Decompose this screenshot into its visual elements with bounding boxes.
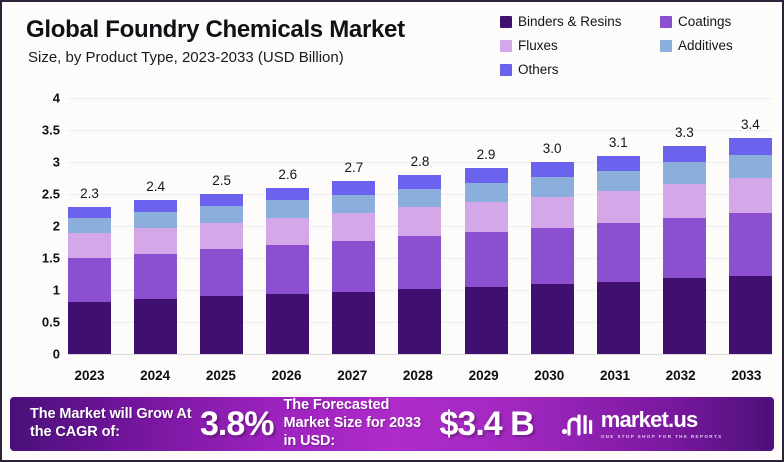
bar-segment-binders-resins[interactable] [597,282,640,354]
legend-swatch-icon [660,16,672,28]
bar-value-label: 2.8 [411,154,430,169]
x-axis-tick-label-2023: 2023 [68,368,111,390]
bar-segment-others[interactable] [332,181,375,194]
x-axis-tick-label-2029: 2029 [462,368,505,390]
bar-segment-coatings[interactable] [332,241,375,292]
bar-segment-others[interactable] [398,175,441,189]
bar-segment-fluxes[interactable] [597,191,640,223]
legend-item-label: Binders & Resins [518,14,622,29]
bar-column-2025[interactable]: 2.5 [200,86,243,366]
legend-item-label: Others [518,62,559,77]
bar-segment-additives[interactable] [266,200,309,217]
bar-segment-fluxes[interactable] [398,207,441,236]
y-axis-tick-label: 1 [14,283,60,298]
bar-segment-coatings[interactable] [266,245,309,294]
bar-segment-additives[interactable] [398,189,441,208]
bar-segment-binders-resins[interactable] [134,299,177,354]
bar-segment-coatings[interactable] [729,213,772,276]
legend-item-label: Coatings [678,14,731,29]
bar-segment-others[interactable] [200,194,243,206]
bar-segment-additives[interactable] [68,218,111,233]
bar-segment-others[interactable] [266,188,309,201]
y-axis-tick-label: 4 [14,91,60,106]
bar-value-label: 2.3 [80,186,99,201]
bar-value-label: 2.4 [146,179,165,194]
legend-swatch-icon [500,40,512,52]
bar-value-label: 2.5 [212,173,231,188]
bar-column-2033[interactable]: 3.4 [729,86,772,366]
stacked-bar [266,188,309,354]
legend-item-coatings[interactable]: Coatings [660,14,772,29]
bar-segment-additives[interactable] [597,171,640,191]
bar-column-2023[interactable]: 2.3 [68,86,111,366]
bar-value-label: 2.9 [477,147,496,162]
stacked-bar [200,194,243,354]
y-axis-tick-label: 0 [14,347,60,362]
y-axis-tick-label: 3 [14,155,60,170]
bar-segment-additives[interactable] [531,177,574,197]
bar-segment-binders-resins[interactable] [465,287,508,354]
legend-item-label: Fluxes [518,38,558,53]
y-axis-tick-label: 3.5 [14,123,60,138]
bar-segment-coatings[interactable] [663,218,706,279]
x-axis-tick-label-2025: 2025 [199,368,242,390]
stacked-bar [332,181,375,354]
bar-column-2027[interactable]: 2.7 [332,86,375,366]
bar-segment-fluxes[interactable] [200,223,243,249]
bar-segment-additives[interactable] [200,206,243,223]
plot-area: 00.511.522.533.54 2.32.42.52.62.72.82.93… [2,86,784,366]
chart-legend: Binders & ResinsCoatingsFluxesAdditivesO… [500,14,772,77]
bar-segment-binders-resins[interactable] [266,294,309,354]
bar-segment-others[interactable] [465,168,508,183]
y-axis-tick-label: 2.5 [14,187,60,202]
bar-group: 2.32.42.52.62.72.82.93.03.13.33.4 [68,86,772,366]
cagr-value: 3.8% [200,405,274,444]
bar-segment-others[interactable] [597,156,640,171]
bar-column-2032[interactable]: 3.3 [663,86,706,366]
bar-column-2030[interactable]: 3.0 [531,86,574,366]
legend-item-label: Additives [678,38,733,53]
bar-segment-others[interactable] [663,146,706,162]
bar-segment-coatings[interactable] [134,254,177,299]
x-axis-tick-label-2030: 2030 [528,368,571,390]
bar-column-2029[interactable]: 2.9 [465,86,508,366]
cagr-label: The Market will Grow At the CAGR of: [30,406,198,442]
bar-segment-coatings[interactable] [531,228,574,284]
legend-item-fluxes[interactable]: Fluxes [500,38,660,53]
x-axis-tick-label-2027: 2027 [331,368,374,390]
y-axis-tick-label: 2 [14,219,60,234]
bar-segment-others[interactable] [729,138,772,155]
bar-segment-fluxes[interactable] [663,184,706,218]
market-us-logo-icon [560,411,594,437]
bar-segment-binders-resins[interactable] [332,292,375,354]
bar-segment-fluxes[interactable] [465,202,508,232]
market-us-logo[interactable]: market.us ONE STOP SHOP FOR THE REPORTS [560,409,723,439]
bar-segment-fluxes[interactable] [332,213,375,241]
bar-segment-additives[interactable] [729,155,772,178]
bar-segment-coatings[interactable] [68,258,111,302]
forecast-label: The Forecasted Market Size for 2033 in U… [284,397,436,451]
y-axis-tick-label: 0.5 [14,315,60,330]
legend-item-others[interactable]: Others [500,62,660,77]
bar-segment-fluxes[interactable] [729,178,772,213]
x-axis-tick-label-2033: 2033 [725,368,768,390]
bar-segment-fluxes[interactable] [134,228,177,254]
bar-value-label: 3.3 [675,125,694,140]
stacked-bar [68,207,111,354]
logo-wordmark: market.us [601,409,698,431]
legend-item-additives[interactable]: Additives [660,38,772,53]
x-axis-tick-label-2032: 2032 [659,368,702,390]
bar-segment-fluxes[interactable] [68,233,111,258]
bar-segment-binders-resins[interactable] [663,278,706,354]
bar-column-2026[interactable]: 2.6 [266,86,309,366]
bar-segment-additives[interactable] [465,183,508,202]
bar-value-label: 3.4 [741,117,760,132]
bar-segment-coatings[interactable] [597,223,640,281]
bar-segment-coatings[interactable] [200,249,243,296]
bar-value-label: 3.0 [543,141,562,156]
bottom-banner: The Market will Grow At the CAGR of: 3.8… [10,397,774,451]
stacked-bar [729,138,772,354]
bar-segment-binders-resins[interactable] [729,276,772,354]
bar-value-label: 2.7 [344,160,363,175]
y-axis-ticks: 00.511.522.533.54 [14,86,60,366]
stacked-bar [663,146,706,354]
bar-segment-additives[interactable] [332,195,375,213]
bar-segment-fluxes[interactable] [266,218,309,246]
bar-value-label: 2.6 [278,167,297,182]
legend-swatch-icon [660,40,672,52]
stacked-bar [398,175,441,354]
page-subtitle: Size, by Product Type, 2023-2033 (USD Bi… [28,49,344,66]
bar-column-2028[interactable]: 2.8 [398,86,441,366]
bar-value-label: 3.1 [609,135,628,150]
bar-column-2024[interactable]: 2.4 [134,86,177,366]
legend-swatch-icon [500,64,512,76]
bar-segment-others[interactable] [531,162,574,177]
x-axis-tick-label-2031: 2031 [594,368,637,390]
x-axis-tick-label-2028: 2028 [396,368,439,390]
x-axis-tick-label-2024: 2024 [134,368,177,390]
bar-segment-binders-resins[interactable] [68,302,111,354]
bar-segment-others[interactable] [68,207,111,218]
page-title: Global Foundry Chemicals Market [26,16,405,44]
forecast-value: $3.4 B [440,405,534,444]
x-axis-ticks: 2023202420252026202720282029203020312032… [68,368,768,390]
stacked-bar [134,200,177,354]
logo-tagline: ONE STOP SHOP FOR THE REPORTS [601,434,723,439]
bar-segment-others[interactable] [134,200,177,212]
chart-infographic: Global Foundry Chemicals Market Size, by… [0,0,784,462]
x-axis-tick-label-2026: 2026 [265,368,308,390]
logo-text: market.us ONE STOP SHOP FOR THE REPORTS [601,409,723,439]
legend-swatch-icon [500,16,512,28]
bar-column-2031[interactable]: 3.1 [597,86,640,366]
stacked-bar [597,156,640,354]
stacked-bar [531,162,574,354]
bar-segment-binders-resins[interactable] [531,284,574,354]
bar-segment-additives[interactable] [663,162,706,184]
legend-item-binders-resins[interactable]: Binders & Resins [500,14,660,29]
bar-segment-binders-resins[interactable] [398,289,441,354]
stacked-bar [465,168,508,354]
bar-segment-additives[interactable] [134,212,177,228]
y-axis-tick-label: 1.5 [14,251,60,266]
bar-segment-coatings[interactable] [465,232,508,286]
bar-segment-coatings[interactable] [398,236,441,289]
bar-segment-fluxes[interactable] [531,197,574,228]
bar-segment-binders-resins[interactable] [200,296,243,354]
